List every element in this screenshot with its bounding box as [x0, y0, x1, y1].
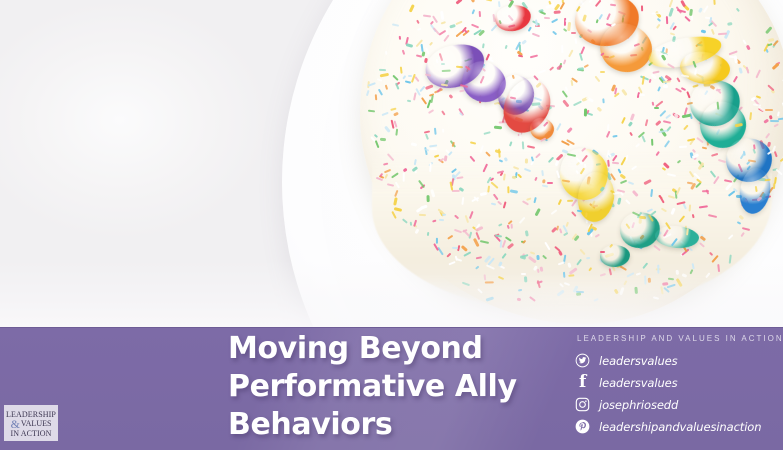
logo-ampersand: & [11, 419, 20, 429]
title-line-2: Performative Ally [228, 368, 558, 406]
hero-photo [0, 0, 783, 330]
title-line-1: Moving Beyond [228, 330, 558, 368]
twitter-icon [575, 353, 599, 368]
social-row-twitter[interactable]: leadersvalues [575, 350, 783, 371]
instagram-icon [575, 397, 599, 412]
social-block: LEADERSHIP AND VALUES IN ACTION leadersv… [575, 334, 783, 438]
logo-line-in-action: IN ACTION [10, 429, 51, 438]
presentation-slide: Moving Beyond Performative Ally Behavior… [0, 0, 783, 450]
brand-tagline: LEADERSHIP AND VALUES IN ACTION [577, 334, 783, 343]
facebook-icon: f [575, 374, 599, 391]
photo-bottom-fade [0, 260, 783, 330]
brand-logo: LEADERSHIP &VALUES IN ACTION [4, 405, 58, 441]
pinterest-icon [575, 419, 599, 434]
title-line-3: Behaviors [228, 406, 558, 444]
pinterest-handle: leadershipandvaluesinaction [599, 420, 761, 434]
page-title: Moving Beyond Performative Ally Behavior… [228, 330, 558, 444]
facebook-handle: leadersvalues [599, 376, 678, 390]
logo-line-values: &VALUES [11, 419, 52, 429]
logo-values-text: VALUES [21, 419, 52, 428]
instagram-handle: josephriosedd [599, 398, 678, 412]
social-row-pinterest[interactable]: leadershipandvaluesinaction [575, 416, 783, 437]
social-row-instagram[interactable]: josephriosedd [575, 394, 783, 415]
social-row-facebook[interactable]: f leadersvalues [575, 372, 783, 393]
twitter-handle: leadersvalues [599, 354, 678, 368]
